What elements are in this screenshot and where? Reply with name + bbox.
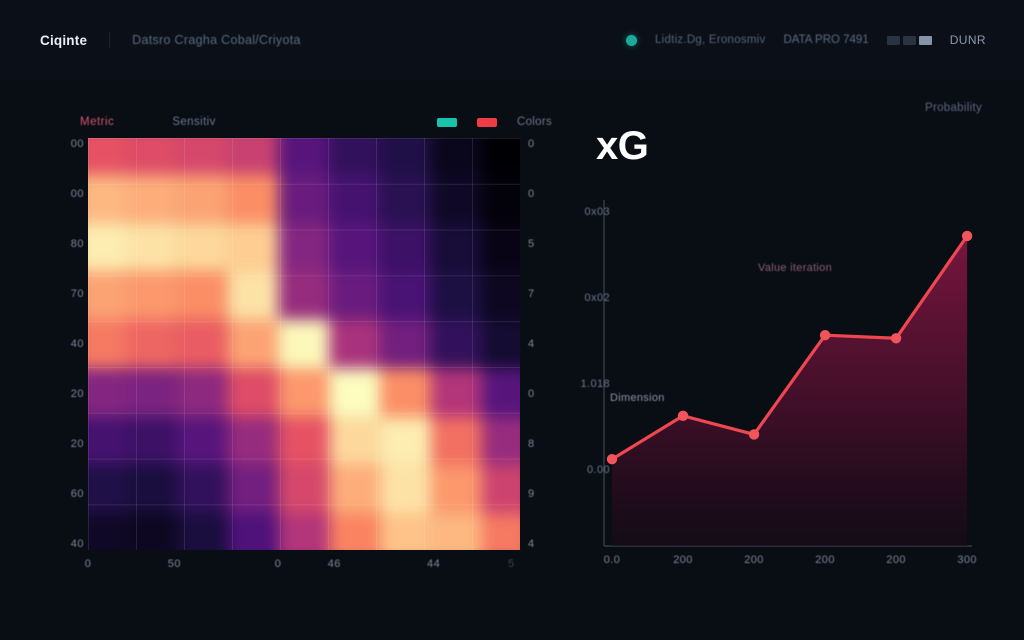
heatmap-cell	[126, 271, 177, 320]
status-dot-icon	[626, 35, 637, 46]
segment-2[interactable]	[903, 36, 916, 45]
heatmap-cell	[228, 465, 279, 514]
legend-swatch-teal[interactable]	[437, 118, 457, 127]
line-chart-area-fill	[612, 236, 967, 546]
heatmap-cell	[380, 465, 431, 514]
heatmap-cell	[177, 465, 228, 514]
line-chart-y-tick: 0x03	[585, 206, 610, 218]
heatmap-cell	[482, 368, 520, 417]
heatmap-cell	[329, 465, 380, 514]
segment-1[interactable]	[887, 36, 900, 45]
heatmap-cell	[279, 320, 330, 369]
heatmap-y-tick-right: 0	[528, 388, 535, 400]
heatmap-cell	[329, 320, 380, 369]
heatmap-y-tick-right: 8	[528, 438, 535, 450]
heatmap-cell	[329, 417, 380, 466]
heatmap-cell	[380, 138, 431, 174]
heatmap-title: Metric	[80, 116, 114, 128]
heatmap-cell	[482, 417, 520, 466]
heatmap-cell	[88, 368, 126, 417]
heatmap-y-tick-left: 40	[71, 538, 84, 550]
line-chart-x-tick: 200	[744, 554, 764, 566]
line-chart-y-tick: 0x02	[585, 292, 610, 304]
heatmap-x-axis: 050046445	[88, 558, 520, 576]
heatmap-cell	[431, 138, 482, 174]
heatmap-cells	[88, 138, 520, 550]
line-chart-y-tick: 0.00	[587, 464, 610, 476]
heatmap-cell	[126, 368, 177, 417]
heatmap-cell	[482, 223, 520, 272]
line-chart-marker[interactable]	[891, 333, 901, 343]
line-chart-marker[interactable]	[749, 429, 759, 439]
line-chart-x-tick: 200	[886, 554, 906, 566]
heatmap-cell	[126, 465, 177, 514]
brand-logo[interactable]: Ciqinte	[40, 33, 87, 48]
heatmap-cell	[126, 138, 177, 174]
line-chart-marker[interactable]	[820, 330, 830, 340]
heatmap-cell	[228, 223, 279, 272]
heatmap-panel: Metric Sensitiv Colors 00008070402020604…	[40, 96, 552, 592]
heatmap-header: Metric Sensitiv Colors	[80, 112, 552, 132]
heatmap-cell	[228, 417, 279, 466]
topbar-meta-label: Lidtiz.Dg, Eronosmiv	[655, 34, 765, 46]
heatmap-cell	[279, 138, 330, 174]
line-chart-x-tick: 200	[815, 554, 835, 566]
heatmap-x-tick: 5	[508, 558, 515, 570]
heatmap-cell	[88, 174, 126, 223]
line-chart-x-tick: 300	[957, 554, 977, 566]
line-chart-y-axis: 0x030x021.0180.00	[576, 206, 610, 476]
heatmap-cell	[177, 368, 228, 417]
heatmap-y-tick-left: 40	[71, 338, 84, 350]
line-chart-marker[interactable]	[678, 411, 688, 421]
heatmap-cell	[380, 223, 431, 272]
line-chart-annotation-1: Dimension	[610, 392, 665, 404]
heatmap-cell	[88, 223, 126, 272]
heatmap-y-tick-left: 00	[71, 188, 84, 200]
heatmap-cell	[482, 514, 520, 550]
heatmap-cell	[279, 174, 330, 223]
heatmap-y-axis-left: 000080704020206040	[40, 138, 84, 550]
heatmap-legend: Colors	[437, 116, 552, 128]
heatmap-cell	[126, 223, 177, 272]
heatmap-y-tick-left: 00	[71, 138, 84, 150]
heatmap-cell	[279, 514, 330, 550]
heatmap-cell	[482, 174, 520, 223]
divider	[109, 32, 110, 48]
user-menu-label[interactable]: DUNR	[950, 33, 986, 47]
heatmap-x-tick: 0	[275, 558, 282, 570]
segmented-toggle-icon[interactable]	[887, 36, 932, 45]
heatmap-cell	[380, 271, 431, 320]
heatmap-cell	[228, 271, 279, 320]
heatmap-y-tick-left: 80	[71, 238, 84, 250]
heatmap-y-tick-right: 4	[528, 338, 535, 350]
heatmap-cell	[431, 271, 482, 320]
heatmap-cell	[177, 223, 228, 272]
heatmap-cell	[431, 320, 482, 369]
heatmap-x-tick: 0	[85, 558, 92, 570]
heatmap-cell	[431, 174, 482, 223]
heatmap-cell	[126, 514, 177, 550]
heatmap-cell	[380, 368, 431, 417]
heatmap-cell	[329, 138, 380, 174]
heatmap-cell	[431, 223, 482, 272]
heatmap-cell	[380, 174, 431, 223]
heatmap-cell	[329, 174, 380, 223]
line-chart-svg[interactable]	[576, 96, 988, 592]
heatmap-cell	[380, 514, 431, 550]
heatmap-cell	[329, 368, 380, 417]
heatmap-cell	[279, 465, 330, 514]
line-chart-annotation-2: Value iteration	[758, 262, 832, 274]
heatmap-cell	[228, 514, 279, 550]
heatmap-cell	[431, 465, 482, 514]
top-bar: Ciqinte Datsro Cragha Cobal/Criyota Lidt…	[0, 0, 1024, 80]
line-chart-marker[interactable]	[962, 231, 972, 241]
heatmap-cell	[177, 271, 228, 320]
heatmap-cell	[228, 138, 279, 174]
heatmap-cell	[88, 138, 126, 174]
heatmap-cell	[482, 320, 520, 369]
heatmap-x-tick: 46	[328, 558, 341, 570]
heatmap-cell	[482, 138, 520, 174]
heatmap-cell	[279, 417, 330, 466]
legend-label: Colors	[517, 116, 552, 128]
heatmap-cell	[431, 368, 482, 417]
heatmap-plot[interactable]	[88, 138, 520, 550]
heatmap-y-tick-right: 0	[528, 188, 535, 200]
heatmap-cell	[88, 271, 126, 320]
heatmap-cell	[279, 368, 330, 417]
heatmap-cell	[88, 514, 126, 550]
topbar-left-group: Ciqinte Datsro Cragha Cobal/Criyota	[0, 32, 301, 48]
heatmap-y-axis-right: 005740894	[528, 138, 558, 550]
heatmap-cell	[126, 174, 177, 223]
heatmap-x-tick: 44	[427, 558, 440, 570]
line-chart-x-tick: 200	[673, 554, 693, 566]
heatmap-cell	[228, 174, 279, 223]
heatmap-y-tick-right: 5	[528, 238, 535, 250]
heatmap-cell	[482, 465, 520, 514]
heatmap-y-tick-left: 70	[71, 288, 84, 300]
heatmap-cell	[279, 223, 330, 272]
heatmap-y-tick-right: 4	[528, 538, 535, 550]
heatmap-y-tick-right: 7	[528, 288, 535, 300]
heatmap-cell	[431, 514, 482, 550]
line-chart-y-tick: 1.018	[580, 378, 610, 390]
heatmap-cell	[228, 320, 279, 369]
heatmap-cell	[380, 417, 431, 466]
breadcrumb[interactable]: Datsro Cragha Cobal/Criyota	[132, 33, 301, 47]
heatmap-cell	[126, 320, 177, 369]
line-chart-x-tick: 0.0	[604, 554, 621, 566]
heatmap-cell	[329, 514, 380, 550]
heatmap-y-tick-left: 60	[71, 488, 84, 500]
heatmap-cell	[177, 417, 228, 466]
heatmap-x-tick: 50	[168, 558, 181, 570]
heatmap-y-tick-left: 20	[71, 438, 84, 450]
line-chart-panel: xG Probability 0x030x021.0180.00 0.02002…	[576, 96, 988, 592]
heatmap-cell	[88, 320, 126, 369]
heatmap-cell	[88, 465, 126, 514]
heatmap-cell	[88, 417, 126, 466]
heatmap-cell	[126, 417, 177, 466]
heatmap-cell	[228, 368, 279, 417]
heatmap-cell	[177, 138, 228, 174]
heatmap-y-tick-right: 9	[528, 488, 535, 500]
topbar-code-label: DATA PRO 7491	[784, 34, 869, 46]
segment-3[interactable]	[919, 36, 932, 45]
heatmap-y-tick-right: 0	[528, 138, 535, 150]
heatmap-cell	[482, 271, 520, 320]
line-chart-x-axis: 0.0200200200200300	[604, 554, 988, 572]
heatmap-y-tick-left: 20	[71, 388, 84, 400]
heatmap-cell	[380, 320, 431, 369]
topbar-right-group: Lidtiz.Dg, Eronosmiv DATA PRO 7491 DUNR	[626, 33, 1024, 47]
heatmap-cell	[431, 417, 482, 466]
heatmap-subtitle: Sensitiv	[172, 116, 215, 128]
heatmap-cell	[177, 320, 228, 369]
legend-swatch-red[interactable]	[477, 118, 497, 127]
heatmap-cell	[279, 271, 330, 320]
heatmap-cell	[177, 514, 228, 550]
heatmap-cell	[329, 223, 380, 272]
heatmap-cell	[177, 174, 228, 223]
heatmap-cell	[329, 271, 380, 320]
